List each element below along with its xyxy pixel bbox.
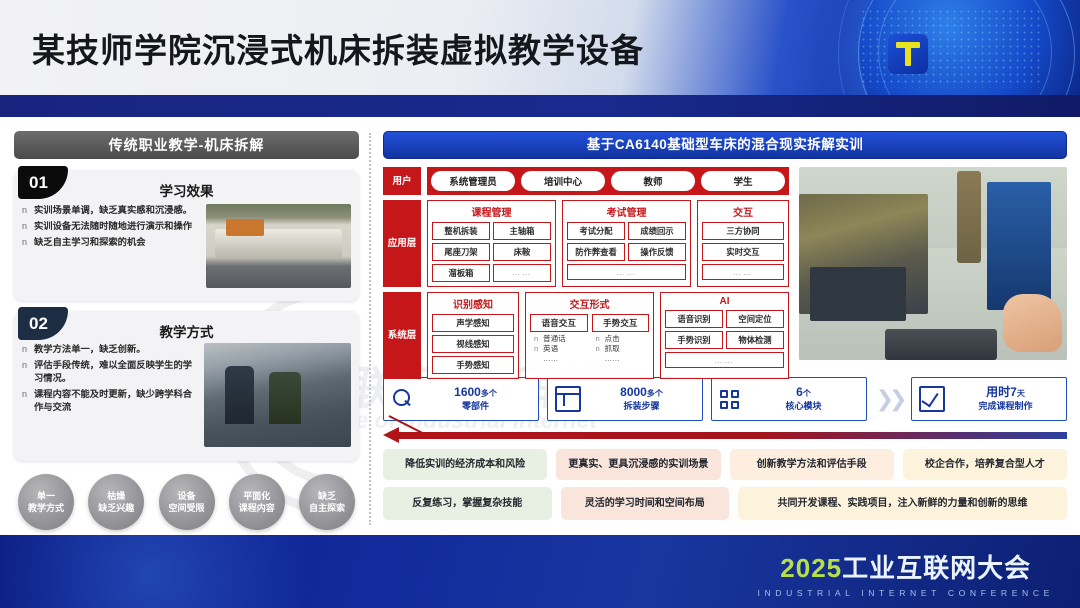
footer-glow <box>0 535 360 608</box>
stat-number: 6 <box>796 385 803 399</box>
sub-item-more: …… <box>596 354 650 364</box>
group-title: 交互 <box>702 204 784 219</box>
bullet-marker-icon: n <box>22 343 34 356</box>
chip-line-1: 缺乏 <box>318 490 336 502</box>
stat-unit: 天 <box>1017 389 1025 398</box>
panel-divider <box>369 133 371 525</box>
group-item[interactable]: 手势识别 <box>665 331 723 349</box>
section-bullets-02: n 教学方法单一，缺乏创新。 n 评估手段传统，难以全面反映学生的学习情况。 n… <box>22 343 200 447</box>
grid-icon <box>719 388 741 410</box>
interaction-voice-head[interactable]: 语音交互 <box>530 314 588 332</box>
sub-item-more: …… <box>534 354 588 364</box>
bullet-text: 实训设备无法随时随地进行演示和操作 <box>34 220 202 233</box>
header-navy-band <box>0 95 1080 117</box>
sub-item: n 普通话 <box>534 334 588 344</box>
group-item[interactable]: 溜板箱 <box>432 264 490 282</box>
check-icon <box>919 386 945 412</box>
group-item-more[interactable]: …… <box>493 264 551 282</box>
benefit-tag: 灵活的学习时间和空间布局 <box>561 487 730 520</box>
chip-line-2: 教学方式 <box>28 502 64 514</box>
stat-value: 1600多个 <box>420 386 531 400</box>
students-workshop-photo <box>204 343 351 447</box>
stat-unit: 个 <box>803 389 811 398</box>
benefit-tag: 更真实、更具沉浸感的实训场景 <box>556 449 720 480</box>
stat-value: 8000多个 <box>588 386 695 400</box>
group-item[interactable]: 床鞍 <box>493 243 551 261</box>
left-panel-title: 传统职业教学-机床拆解 <box>14 131 359 159</box>
role-training-center[interactable]: 培训中心 <box>521 171 605 191</box>
interaction-voice: 语音交互 n 普通话 n 英语 <box>530 314 588 364</box>
pain-point-chip: 设备 空间受限 <box>159 474 215 530</box>
chip-line-2: 课程内容 <box>239 502 275 514</box>
pain-point-chips: 单一 教学方式 枯燥 缺乏兴趣 设备 空间受限 平面化 课程内容 缺乏 自主探索 <box>14 474 359 530</box>
pain-point-chip: 缺乏 自主探索 <box>299 474 355 530</box>
solution-panel: 基于CA6140基础型车床的混合现实拆解实训 用户 系统管理员 培训中心 教师 … <box>383 131 1067 531</box>
pain-point-chip: 枯燥 缺乏兴趣 <box>88 474 144 530</box>
bullet-item: n 缺乏自主学习和探索的机会 <box>22 236 202 249</box>
bullet-item: n 实训设备无法随时随地进行演示和操作 <box>22 220 202 233</box>
sub-marker-icon <box>596 354 605 364</box>
stat-number: 8000 <box>620 385 647 399</box>
group-item[interactable]: 视线感知 <box>432 335 514 353</box>
group-item[interactable]: 考试分配 <box>567 222 625 240</box>
interaction-gesture: 手势交互 n 点击 n 抓取 <box>592 314 650 364</box>
photo-tray <box>885 329 998 360</box>
brand-name-cn: 工业互联网大会 <box>842 553 1031 583</box>
bullet-item: n 教学方法单一，缺乏创新。 <box>22 343 200 356</box>
bullet-text: 评估手段传统，难以全面反映学生的学习情况。 <box>34 359 200 385</box>
dot-matrix-decoration <box>860 8 1040 88</box>
group-item[interactable]: 空间定位 <box>726 310 784 328</box>
benefit-tag: 反复练习，掌握复杂技能 <box>383 487 552 520</box>
bullet-text: 缺乏自主学习和探索的机会 <box>34 236 202 249</box>
group-item-more[interactable]: …… <box>702 264 784 280</box>
sub-marker-icon: n <box>534 334 543 344</box>
photo-cabinet <box>987 182 1051 309</box>
stat-value: 用时7天 <box>952 386 1059 400</box>
section-card-02: 02 教学方式 n 教学方法单一，缺乏创新。 n 评估手段传统，难以全面反映学生… <box>14 311 359 461</box>
interaction-gesture-head[interactable]: 手势交互 <box>592 314 650 332</box>
bullet-marker-icon: n <box>22 204 34 217</box>
group-interaction: 交互 三方协同 实时交互 …… <box>697 200 789 287</box>
bullet-text: 教学方法单一，缺乏创新。 <box>34 343 200 356</box>
role-admin[interactable]: 系统管理员 <box>431 171 515 191</box>
sub-text: 点击 <box>605 334 620 344</box>
chevron-right-icon: ❯❯ <box>875 386 903 412</box>
benefit-tags-row-1: 降低实训的经济成本和风险 更真实、更具沉浸感的实训场景 创新教学方法和评估手段 … <box>383 449 1067 480</box>
group-item[interactable]: 物体检测 <box>726 331 784 349</box>
bullet-marker-icon: n <box>22 236 34 249</box>
group-item[interactable]: 防作弊查看 <box>567 243 625 261</box>
group-item[interactable]: 三方协同 <box>702 222 784 240</box>
photo-hand <box>1003 294 1062 352</box>
chip-line-1: 单一 <box>37 490 55 502</box>
bullet-text: 课程内容不能及时更新，缺少跨学科合作与交流 <box>34 388 200 414</box>
group-item[interactable]: 主轴箱 <box>493 222 551 240</box>
stat-unit: 多个 <box>481 389 497 398</box>
sub-text: 英语 <box>543 344 558 354</box>
benefit-tag: 校企合作，培养复合型人才 <box>903 449 1067 480</box>
arrow-shaft <box>397 432 1067 439</box>
group-item[interactable]: 实时交互 <box>702 243 784 261</box>
bullet-marker-icon: n <box>22 220 34 233</box>
group-item[interactable]: 整机拆装 <box>432 222 490 240</box>
sub-marker-icon: n <box>534 344 543 354</box>
tier-label-system: 系统层 <box>383 292 421 379</box>
group-item[interactable]: 尾座刀架 <box>432 243 490 261</box>
conference-brand: 2025工业互联网大会 INDUSTRIAL INTERNET CONFEREN… <box>757 548 1054 598</box>
stat-label: 拆装步骤 <box>588 400 695 413</box>
stat-unit: 多个 <box>647 389 663 398</box>
photo-person <box>957 171 981 264</box>
group-title: 考试管理 <box>567 204 686 219</box>
sub-item: n 点击 <box>596 334 650 344</box>
bullet-item: n 课程内容不能及时更新，缺少跨学科合作与交流 <box>22 388 200 414</box>
page-header: 某技师学院沉浸式机床拆装虚拟教学设备 <box>0 0 1080 95</box>
group-ai: AI 语音识别 空间定位 手势识别 物体检测 …… <box>660 292 789 379</box>
group-item-more[interactable]: …… <box>567 264 686 280</box>
sub-item: n 抓取 <box>596 344 650 354</box>
group-course-management: 课程管理 整机拆装 主轴箱 尾座刀架 床鞍 溜板箱 …… <box>427 200 556 287</box>
arrow-head-icon <box>383 427 399 443</box>
tier-label-application: 应用层 <box>383 200 421 287</box>
bullet-text: 实训场景单调，缺乏真实感和沉浸感。 <box>34 204 202 217</box>
right-panel-title: 基于CA6140基础型车床的混合现实拆解实训 <box>383 131 1067 159</box>
sub-marker-icon: n <box>596 344 605 354</box>
chip-line-2: 自主探索 <box>309 502 345 514</box>
workshop-lathe-hand-photo <box>799 167 1067 360</box>
group-item[interactable]: 声学感知 <box>432 314 514 332</box>
tier-body-system: 识别感知 声学感知 视线感知 手势感知 交互形式 语音交互 <box>427 292 789 379</box>
role-teacher[interactable]: 教师 <box>611 171 695 191</box>
bullet-item: n 实训场景单调，缺乏真实感和沉浸感。 <box>22 204 202 217</box>
group-title: 课程管理 <box>432 204 551 219</box>
group-recognition: 识别感知 声学感知 视线感知 手势感知 <box>427 292 519 379</box>
group-title: AI <box>665 296 784 307</box>
tier-label-users: 用户 <box>383 167 421 195</box>
bullet-item: n 评估手段传统，难以全面反映学生的学习情况。 <box>22 359 200 385</box>
section-bullets-01: n 实训场景单调，缺乏真实感和沉浸感。 n 实训设备无法随时随地进行演示和操作 … <box>22 204 202 288</box>
stat-number: 用时7 <box>986 385 1017 399</box>
role-student[interactable]: 学生 <box>701 171 785 191</box>
stat-value: 6个 <box>748 386 859 400</box>
sub-text: …… <box>543 354 558 364</box>
chip-line-1: 设备 <box>177 490 195 502</box>
stat-number: 1600 <box>454 385 481 399</box>
bullet-marker-icon: n <box>22 388 34 414</box>
group-exam-management: 考试管理 考试分配 成绩回示 防作弊查看 操作反馈 …… <box>562 200 691 287</box>
brand-year: 2025 <box>780 553 842 583</box>
gradient-arrow <box>383 426 1067 442</box>
group-title: 交互形式 <box>530 296 649 311</box>
sub-text: …… <box>605 354 620 364</box>
chip-line-2: 缺乏兴趣 <box>98 502 134 514</box>
tier-system: 系统层 识别感知 声学感知 视线感知 手势感知 交互形式 <box>383 292 789 379</box>
group-item[interactable]: 成绩回示 <box>628 222 686 240</box>
benefit-tag: 创新教学方法和评估手段 <box>730 449 894 480</box>
lathe-machine-photo <box>206 204 351 288</box>
photo-lathe-base <box>810 267 906 321</box>
pain-point-chip: 单一 教学方式 <box>18 474 74 530</box>
stat-label: 核心模块 <box>748 400 859 413</box>
tier-application: 应用层 课程管理 整机拆装 主轴箱 尾座刀架 床鞍 溜板箱 …… <box>383 200 789 287</box>
sub-marker-icon: n <box>596 334 605 344</box>
group-item[interactable]: 操作反馈 <box>628 243 686 261</box>
brand-name-en: INDUSTRIAL INTERNET CONFERENCE <box>757 588 1054 598</box>
group-item-more[interactable]: …… <box>665 352 784 368</box>
chip-line-1: 平面化 <box>243 490 270 502</box>
page-title: 某技师学院沉浸式机床拆装虚拟教学设备 <box>32 24 644 72</box>
sub-item: n 英语 <box>534 344 588 354</box>
chip-line-2: 空间受限 <box>168 502 204 514</box>
benefit-tag: 降低实训的经济成本和风险 <box>383 449 547 480</box>
slide-body: 工业互联网创新联盟 Alliance of Industrial Interne… <box>0 117 1080 535</box>
stat-label: 零部件 <box>420 400 531 413</box>
group-item[interactable]: 手势感知 <box>432 356 514 374</box>
group-title: 识别感知 <box>432 296 514 311</box>
tier-body-application: 课程管理 整机拆装 主轴箱 尾座刀架 床鞍 溜板箱 …… 考试管理 <box>427 200 789 287</box>
pain-point-chip: 平面化 课程内容 <box>229 474 285 530</box>
page-footer: 2025工业互联网大会 INDUSTRIAL INTERNET CONFEREN… <box>0 535 1080 608</box>
stat-label: 完成课程制作 <box>952 400 1059 413</box>
list-icon <box>555 386 581 412</box>
search-icon <box>391 388 413 410</box>
group-interaction-forms: 交互形式 语音交互 n 普通话 <box>525 292 654 379</box>
benefit-tags-row-2: 反复练习，掌握复杂技能 灵活的学习时间和空间布局 共同开发课程、实践项目，注入新… <box>383 487 1067 520</box>
sub-text: 抓取 <box>605 344 620 354</box>
sub-marker-icon <box>534 354 543 364</box>
chip-line-1: 枯燥 <box>107 490 125 502</box>
stat-duration: 用时7天 完成课程制作 <box>911 377 1067 421</box>
tier-body-users: 系统管理员 培训中心 教师 学生 <box>427 167 789 195</box>
benefit-tag: 共同开发课程、实践项目，注入新鲜的力量和创新的思维 <box>738 487 1067 520</box>
sub-text: 普通话 <box>543 334 566 344</box>
bullet-marker-icon: n <box>22 359 34 385</box>
group-item[interactable]: 语音识别 <box>665 310 723 328</box>
t-logo-icon <box>888 34 928 74</box>
architecture-diagram: 用户 系统管理员 培训中心 教师 学生 应用层 课程管理 <box>383 167 1067 367</box>
traditional-teaching-panel: 传统职业教学-机床拆解 01 学习效果 n 实训场景单调，缺乏真实感和沉浸感。 … <box>14 131 359 531</box>
tier-users: 用户 系统管理员 培训中心 教师 学生 <box>383 167 789 195</box>
section-card-01: 01 学习效果 n 实训场景单调，缺乏真实感和沉浸感。 n 实训设备无法随时随地… <box>14 170 359 301</box>
